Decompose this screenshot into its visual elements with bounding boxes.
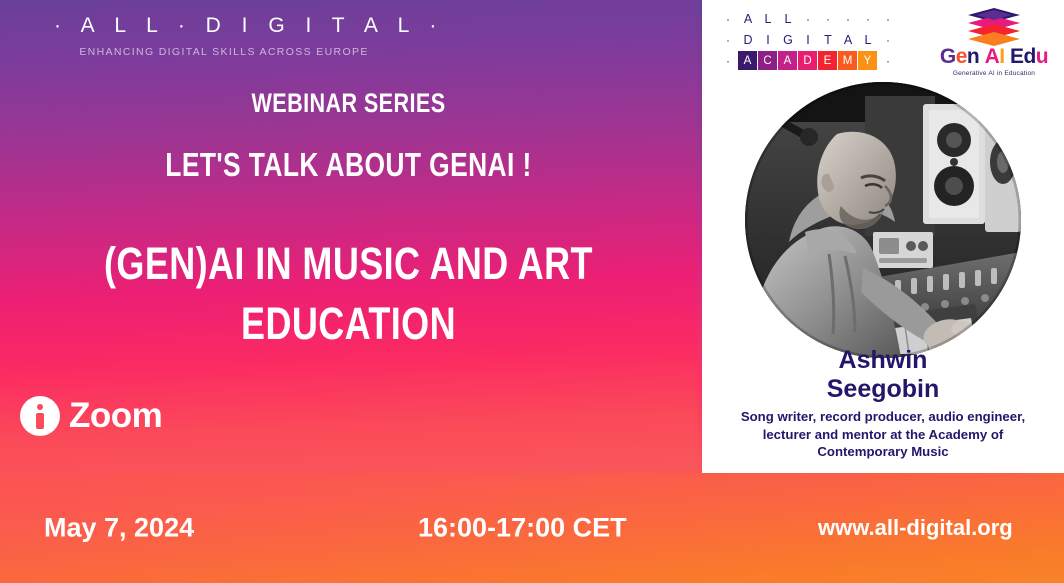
all-digital-wordmark: · A L L · D I G I T A L · bbox=[54, 14, 394, 38]
dot-icon: · bbox=[798, 12, 818, 26]
event-time: 16:00-17:00 CET bbox=[418, 513, 627, 544]
academy-letter: A bbox=[738, 12, 758, 26]
academy-letter-tile: E bbox=[818, 51, 837, 70]
headline-line-2: EDUCATION bbox=[70, 298, 628, 350]
stacked-layers-icon bbox=[934, 4, 1054, 46]
speaker-last-name: Seegobin bbox=[702, 375, 1064, 404]
genai-letter: n bbox=[967, 46, 979, 67]
academy-letter-tile: A bbox=[738, 51, 757, 70]
genai-letter: e bbox=[956, 46, 967, 67]
academy-logo-row-academy: · ACADEMY · bbox=[718, 50, 898, 71]
speaker-portrait bbox=[745, 82, 1021, 358]
academy-letter-tile: C bbox=[758, 51, 777, 70]
genai-letter: d bbox=[1023, 46, 1035, 67]
academy-letter-tile: A bbox=[778, 51, 797, 70]
academy-letter-tiles: ACADEMY bbox=[738, 51, 878, 70]
dot-icon: · bbox=[718, 33, 738, 47]
gen-ai-edu-logo: Gen AI Edu Generative AI in Education bbox=[934, 4, 1054, 77]
academy-logo-row-all: · A L L · · · · · bbox=[718, 8, 898, 29]
dot-icon: · bbox=[878, 54, 898, 68]
dot-icon: · bbox=[878, 12, 898, 26]
all-digital-tagline: ENHANCING DIGITAL SKILLS ACROSS EUROPE bbox=[54, 46, 394, 58]
dot-icon: · bbox=[718, 12, 738, 26]
academy-logo-row-digital: · D I G I T A L · bbox=[718, 29, 898, 50]
series-title: LET'S TALK ABOUT GENAI ! bbox=[70, 146, 628, 184]
academy-letter-tile: D bbox=[798, 51, 817, 70]
academy-letter: L bbox=[778, 12, 798, 26]
dot-icon: · bbox=[838, 12, 858, 26]
webinar-series-label: WEBINAR SERIES bbox=[70, 88, 628, 119]
academy-letter-tile: M bbox=[838, 51, 857, 70]
academy-letter: L bbox=[858, 33, 878, 47]
academy-letter: T bbox=[818, 33, 838, 47]
zoom-label: Zoom bbox=[69, 396, 162, 436]
academy-letter: I bbox=[798, 33, 818, 47]
speaker-first-name: Ashwin bbox=[702, 346, 1064, 375]
academy-letter: D bbox=[738, 33, 758, 47]
dot-icon: · bbox=[818, 12, 838, 26]
all-digital-logo: · A L L · D I G I T A L · ENHANCING DIGI… bbox=[54, 14, 394, 58]
left-gradient-panel: · A L L · D I G I T A L · ENHANCING DIGI… bbox=[0, 0, 697, 476]
event-details-bar: May 7, 2024 16:00-17:00 CET www.all-digi… bbox=[0, 473, 1064, 583]
dot-icon: · bbox=[718, 54, 738, 68]
speaker-bio-line-1: Song writer, record producer, audio engi… bbox=[720, 408, 1046, 426]
dot-icon: · bbox=[878, 33, 898, 47]
academy-letter-tile: Y bbox=[858, 51, 877, 70]
genai-letter: E bbox=[1010, 46, 1024, 67]
dot-icon: · bbox=[858, 12, 878, 26]
genai-letter: G bbox=[940, 46, 956, 67]
headline-line-1: (GEN)AI IN MUSIC AND ART bbox=[70, 238, 628, 290]
zoom-platform-lockup: Zoom bbox=[20, 396, 162, 436]
speaker-bio-line-2: lecturer and mentor at the Academy of bbox=[720, 426, 1046, 444]
webinar-promo-poster: · A L L · D I G I T A L · ENHANCING DIGI… bbox=[0, 0, 1064, 583]
right-white-panel: · A L L · · · · · · D I G I T A L · bbox=[702, 0, 1064, 473]
event-date: May 7, 2024 bbox=[44, 513, 194, 544]
academy-letter: A bbox=[838, 33, 858, 47]
academy-letter: I bbox=[758, 33, 778, 47]
genai-letter: u bbox=[1036, 46, 1048, 67]
website-url[interactable]: www.all-digital.org bbox=[818, 515, 1013, 541]
genai-letter: A bbox=[985, 46, 1000, 67]
all-digital-academy-logo: · A L L · · · · · · D I G I T A L · bbox=[718, 8, 898, 71]
gen-ai-edu-wordmark: Gen AI Edu bbox=[934, 46, 1054, 67]
academy-letter: G bbox=[778, 33, 798, 47]
speaker-name: Ashwin Seegobin bbox=[702, 346, 1064, 403]
zoom-video-icon bbox=[20, 396, 60, 436]
speaker-bio: Song writer, record producer, audio engi… bbox=[720, 408, 1046, 461]
academy-letter: L bbox=[758, 12, 778, 26]
speaker-bio-line-3: Contemporary Music bbox=[720, 443, 1046, 461]
gen-ai-edu-tagline: Generative AI in Education bbox=[934, 70, 1054, 77]
